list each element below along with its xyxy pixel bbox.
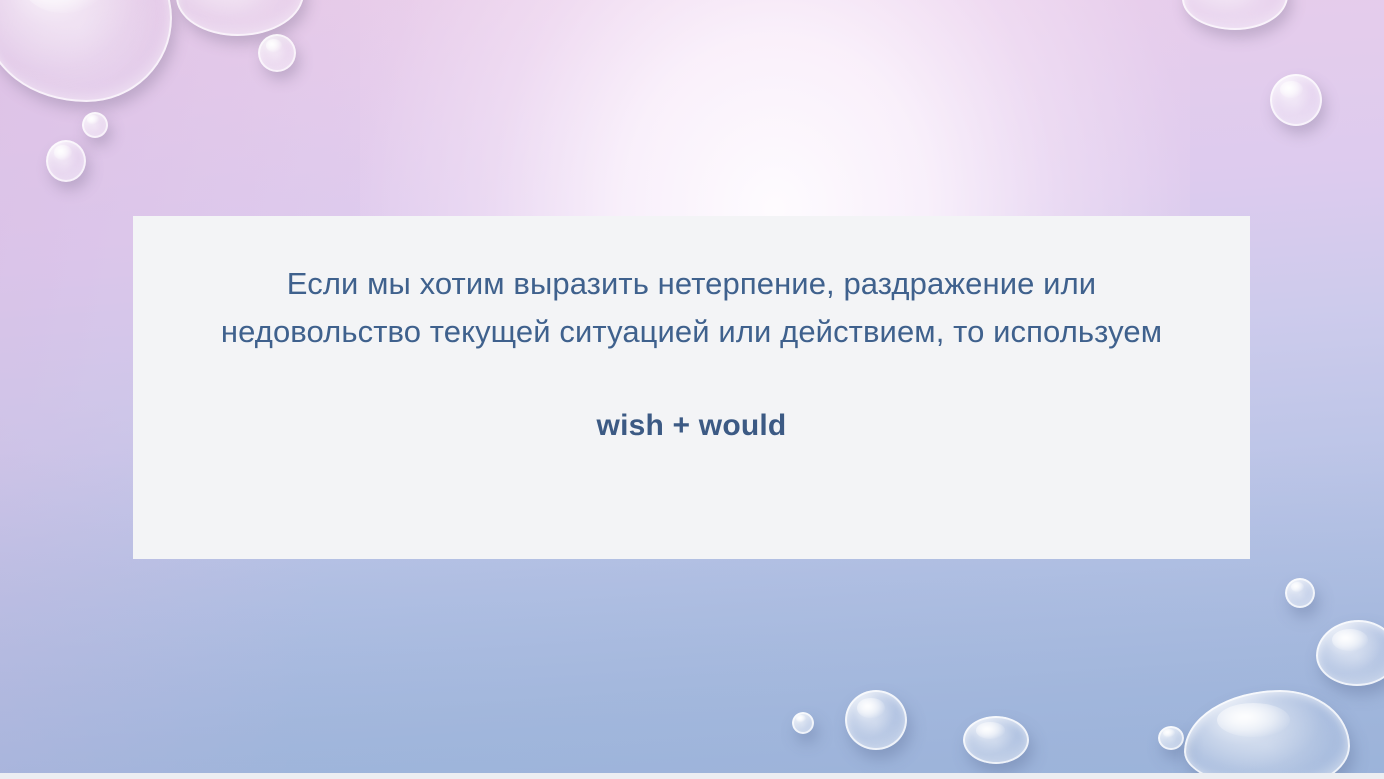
slide-body-text: Если мы хотим выразить нетерпение, раздр… xyxy=(195,260,1188,356)
slide-emphasis-text: wish + would xyxy=(195,404,1188,448)
slide-bottom-strip xyxy=(0,773,1384,779)
content-panel: Если мы хотим выразить нетерпение, раздр… xyxy=(133,216,1250,559)
presentation-slide: Если мы хотим выразить нетерпение, раздр… xyxy=(0,0,1384,779)
